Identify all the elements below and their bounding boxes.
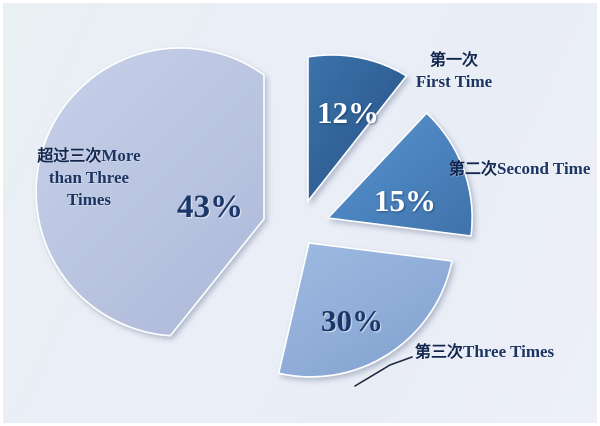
slice-label-more-than-three-times-en-1: More — [101, 146, 140, 165]
slice-label-more-than-three-times-en-2: than Three — [49, 168, 129, 187]
slice-label-second-time-en: Second Time — [497, 159, 590, 178]
slice-label-second-time: 第二次Second Time — [449, 158, 595, 180]
slice-label-more-than-three-times-cn: 超过三次 — [37, 146, 101, 165]
slice-label-first-time-cn: 第一次 — [430, 50, 478, 69]
slice-label-three-times-cn: 第三次 — [415, 342, 463, 361]
slice-label-second-time-cn: 第二次 — [449, 159, 497, 178]
slice-label-three-times: 第三次Three Times — [415, 341, 565, 363]
slice-label-more-than-three-times: 超过三次More than Three Times — [13, 145, 165, 210]
slice-label-more-than-three-times-en-3: Times — [67, 190, 111, 209]
slice-label-first-time-en: First Time — [416, 72, 492, 91]
pie-chart-canvas: 12% 15% 30% 43% 第一次 First Time 第二次Second… — [0, 0, 600, 426]
slice-label-three-times-en: Three Times — [463, 342, 554, 361]
slice-label-first-time: 第一次 First Time — [389, 49, 519, 93]
